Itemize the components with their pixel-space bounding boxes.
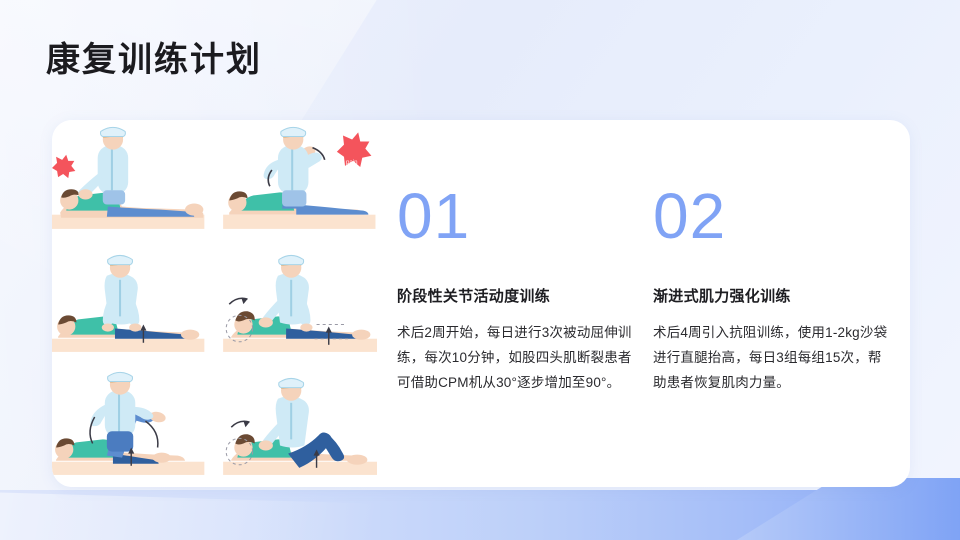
illustration-cell-5 — [52, 365, 215, 487]
illus-5-therapist-hip-flexion-leg-raise — [52, 365, 215, 487]
content-column-2: 02 渐进式肌力强化训练 术后4周引入抗阻训练，使用1-2kg沙袋进行直腿抬高，… — [653, 184, 889, 396]
column-2-body: 术后4周引入抗阻训练，使用1-2kg沙袋进行直腿抬高，每日3组每组15次，帮助患… — [653, 321, 889, 396]
column-2-number: 02 — [653, 184, 889, 248]
column-1-heading: 阶段性关节活动度训练 — [397, 286, 633, 307]
slide-root: 康复训练计划 — [0, 0, 960, 540]
illustration-grid: pain — [52, 120, 377, 487]
page-title: 康复训练计划 — [46, 40, 262, 81]
illus-3-therapist-knee-flexion-support — [52, 242, 215, 364]
column-1-number: 01 — [397, 184, 633, 248]
column-2-heading: 渐进式肌力强化训练 — [653, 286, 889, 307]
content-column-1: 01 阶段性关节活动度训练 术后2周开始，每日进行3次被动屈伸训练，每次10分钟… — [397, 184, 633, 396]
illustration-cell-4 — [215, 242, 378, 364]
illus-4-therapist-knee-bend-head-rotation — [215, 242, 378, 364]
illus-2-therapist-lifting-straight-leg: pain — [215, 120, 378, 242]
illustration-cell-1 — [52, 120, 215, 242]
illustration-cell-3 — [52, 242, 215, 364]
illus-6-therapist-knee-to-chest-head-turn — [215, 365, 378, 487]
illus-1-therapist-pressing-thigh-leg-straight — [52, 120, 215, 242]
content-card: pain — [52, 120, 910, 487]
svg-text:pain: pain — [346, 159, 358, 166]
illustration-cell-2: pain — [215, 120, 378, 242]
column-1-body: 术后2周开始，每日进行3次被动屈伸训练，每次10分钟，如股四头肌断裂患者可借助C… — [397, 321, 633, 396]
bottom-decor-band — [0, 478, 960, 540]
illustration-cell-6 — [215, 365, 378, 487]
